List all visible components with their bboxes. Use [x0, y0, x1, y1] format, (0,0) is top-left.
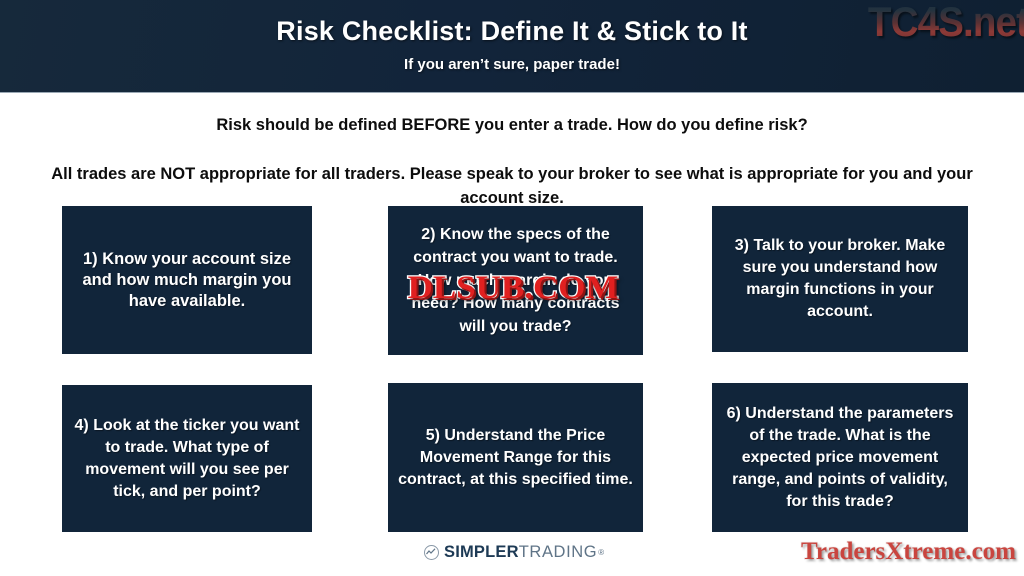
simpler-logo-word-secondary: TRADING: [519, 543, 597, 562]
checklist-box-3: 3) Talk to your broker. Make sure you un…: [712, 206, 968, 352]
intro-disclaimer-text: All trades are NOT appropriate for all t…: [28, 162, 996, 210]
tc4s-watermark: TC4S.net: [868, 0, 1024, 46]
checklist-box-3-text: 3) Talk to your broker. Make sure you un…: [722, 235, 958, 323]
checklist-box-2-text: 2) Know the specs of the contract you wa…: [398, 223, 633, 338]
checklist-box-2: 2) Know the specs of the contract you wa…: [388, 206, 643, 355]
checklist-box-6: 6) Understand the parameters of the trad…: [712, 383, 968, 532]
simpler-trading-logo: SIMPLER TRADING ®: [424, 541, 604, 563]
simpler-logo-word-primary: SIMPLER: [444, 543, 519, 562]
checklist-box-5-text: 5) Understand the Price Movement Range f…: [398, 425, 633, 491]
checklist-box-6-text: 6) Understand the parameters of the trad…: [722, 403, 958, 513]
page-subtitle: If you aren’t sure, paper trade!: [0, 56, 1024, 73]
checklist-box-1: 1) Know your account size and how much m…: [62, 206, 312, 354]
tradersxtreme-watermark: TradersXtreme.com: [801, 538, 1016, 566]
intro-question-text: Risk should be defined BEFORE you enter …: [28, 116, 996, 135]
registered-trademark-symbol: ®: [598, 548, 604, 557]
checklist-box-5: 5) Understand the Price Movement Range f…: [388, 383, 643, 532]
header-band: Risk Checklist: Define It & Stick to It …: [0, 0, 1024, 93]
chart-circle-icon: [424, 545, 439, 560]
checklist-box-4-text: 4) Look at the ticker you want to trade.…: [72, 415, 302, 503]
checklist-box-4: 4) Look at the ticker you want to trade.…: [62, 385, 312, 532]
checklist-box-1-text: 1) Know your account size and how much m…: [72, 249, 302, 312]
